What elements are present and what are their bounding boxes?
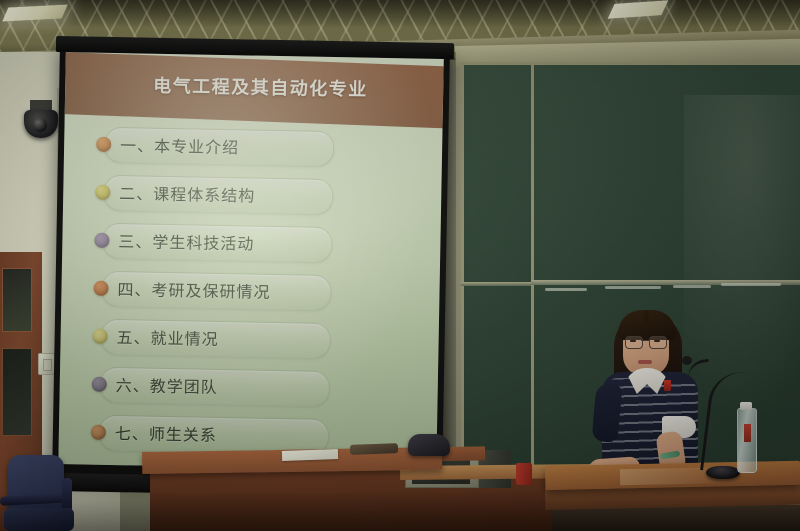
paper-sheets[interactable] xyxy=(282,449,338,461)
chalk-mark xyxy=(673,285,711,288)
agenda-item-label: 三、学生科技活动 xyxy=(118,228,254,254)
lecture-hall-scene: 电气工程及其自动化专业 一、本专业介绍 二、课程体系结构 三、学生科技活动 xyxy=(0,0,800,531)
agenda-item-label: 四、考研及保研情况 xyxy=(117,276,270,303)
chalk-mark xyxy=(605,286,661,289)
chalk-mark xyxy=(721,283,781,286)
door-glass-panel-upper xyxy=(2,268,32,332)
agenda-item-label: 五、就业情况 xyxy=(116,324,218,350)
slide-agenda-list: 一、本专业介绍 二、课程体系结构 三、学生科技活动 四、考研及保研情况 xyxy=(58,120,442,463)
list-item: 四、考研及保研情况 xyxy=(61,264,440,317)
agenda-item-label: 二、课程体系结构 xyxy=(119,180,255,206)
chalk-mark xyxy=(545,288,587,291)
agenda-item-label: 七、师生关系 xyxy=(115,420,217,446)
list-item: 二、课程体系结构 xyxy=(63,168,442,221)
office-chair-seat[interactable] xyxy=(4,508,74,531)
list-item: 一、本专业介绍 xyxy=(64,120,443,173)
bottle-cap xyxy=(740,402,752,410)
microphone-head-icon xyxy=(682,356,692,365)
sleeve-left xyxy=(592,383,623,443)
bottle-label xyxy=(744,424,751,442)
black-pouch[interactable] xyxy=(408,434,450,456)
office-chair-armrest-right xyxy=(62,478,72,512)
presenter xyxy=(596,306,716,476)
red-badge xyxy=(664,380,671,391)
list-item: 三、学生科技活动 xyxy=(62,216,441,269)
projection-screen: 电气工程及其自动化专业 一、本专业介绍 二、课程体系结构 三、学生科技活动 xyxy=(52,44,450,486)
presentation-slide: 电气工程及其自动化专业 一、本专业介绍 二、课程体系结构 三、学生科技活动 xyxy=(58,52,443,471)
agenda-item-label: 一、本专业介绍 xyxy=(120,132,239,158)
list-item: 六、教学团队 xyxy=(59,360,438,413)
desk-object[interactable] xyxy=(350,443,398,455)
agenda-item-label: 六、教学团队 xyxy=(116,372,218,398)
red-cup[interactable] xyxy=(516,463,532,485)
list-item: 五、就业情况 xyxy=(60,312,439,365)
mouth xyxy=(638,360,652,364)
door-glass-panel-lower xyxy=(2,348,32,436)
blackboard-panel-left xyxy=(461,62,535,498)
slide-title: 电气工程及其自动化专业 xyxy=(153,72,368,102)
blackboard-horizontal-seam-left xyxy=(461,282,531,286)
light-switch[interactable] xyxy=(38,353,55,375)
